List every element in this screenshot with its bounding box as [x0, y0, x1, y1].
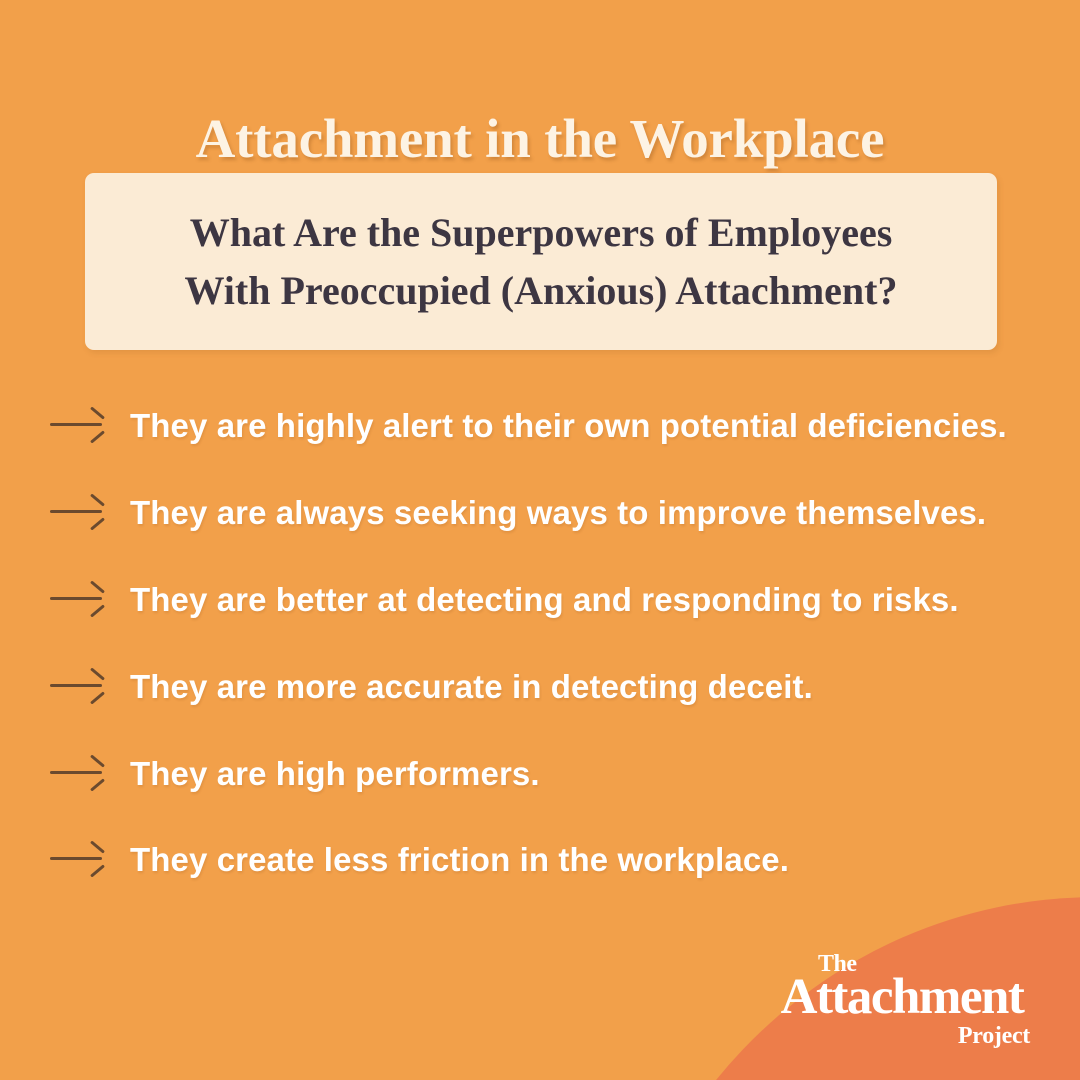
- question-line-1: What Are the Superpowers of Employees: [185, 204, 898, 262]
- list-item-label: They are high performers.: [130, 752, 1060, 796]
- list-item-label: They are better at detecting and respond…: [130, 578, 1060, 622]
- list-item-label: They are more accurate in detecting dece…: [130, 665, 1060, 709]
- logo-line-project: Project: [766, 1024, 1030, 1048]
- list-item: They are more accurate in detecting dece…: [50, 665, 1060, 709]
- question-card-text: What Are the Superpowers of Employees Wi…: [157, 204, 926, 320]
- list-item-label: They are highly alert to their own poten…: [130, 404, 1060, 448]
- page-title: Attachment in the Workplace: [0, 109, 1080, 170]
- question-line-2: With Preoccupied (Anxious) Attachment?: [185, 262, 898, 320]
- list-item: They are always seeking ways to improve …: [50, 491, 1060, 535]
- logo-line-attachment: Attachment: [766, 972, 1038, 1023]
- list-item: They are high performers.: [50, 752, 1060, 796]
- list-item-label: They create less friction in the workpla…: [130, 838, 1060, 882]
- arrow-right-icon: [50, 670, 108, 702]
- arrow-right-icon: [50, 409, 108, 441]
- brand-logo: The Attachment Project: [766, 952, 1038, 1048]
- superpowers-list: They are highly alert to their own poten…: [50, 404, 1060, 882]
- arrow-right-icon: [50, 496, 108, 528]
- arrow-right-icon: [50, 757, 108, 789]
- question-card: What Are the Superpowers of Employees Wi…: [85, 173, 997, 350]
- list-item: They create less friction in the workpla…: [50, 838, 1060, 882]
- poster-canvas: Attachment in the Workplace What Are the…: [0, 0, 1080, 1080]
- arrow-right-icon: [50, 843, 108, 875]
- list-item: They are highly alert to their own poten…: [50, 404, 1060, 448]
- arrow-right-icon: [50, 583, 108, 615]
- list-item-label: They are always seeking ways to improve …: [130, 491, 1060, 535]
- list-item: They are better at detecting and respond…: [50, 578, 1060, 622]
